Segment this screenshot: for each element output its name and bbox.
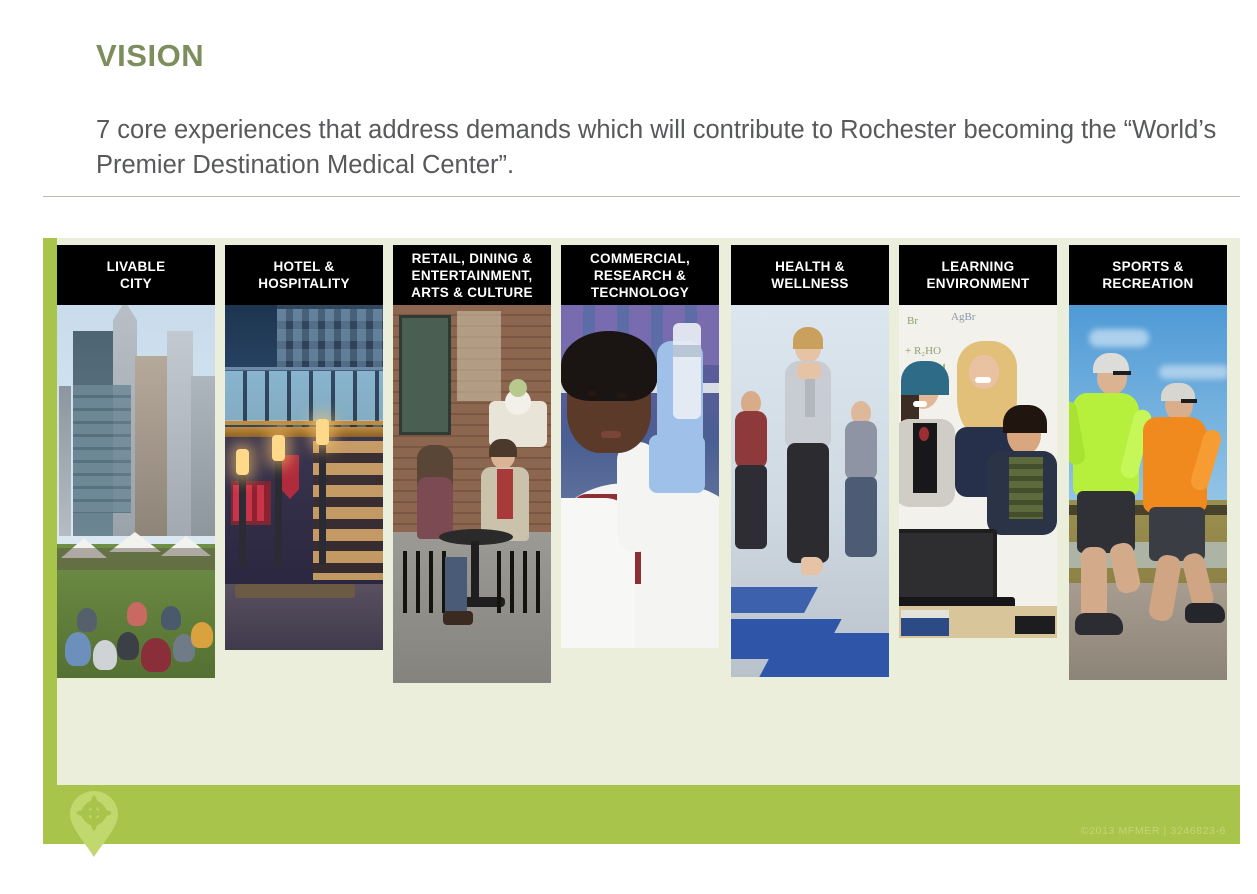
column-header-learning-environment: LEARNING ENVIRONMENT	[899, 245, 1057, 305]
column-label-line: LEARNING	[926, 258, 1029, 275]
column-label-line: HOTEL &	[258, 258, 350, 275]
column-image-sports-recreation	[1069, 305, 1227, 680]
column-header-retail-dining: RETAIL, DINING & ENTERTAINMENT, ARTS & C…	[393, 245, 551, 305]
column-image-commercial-research	[561, 305, 719, 648]
column-label-line: WELLNESS	[771, 275, 848, 292]
content-panel: LIVABLE CITY	[43, 238, 1240, 844]
column-header-commercial-research: COMMERCIAL, RESEARCH & TECHNOLOGY	[561, 245, 719, 305]
experience-columns: LIVABLE CITY	[43, 238, 1240, 785]
column-label-line: ARTS & CULTURE	[411, 284, 533, 301]
page-subtitle: 7 core experiences that address demands …	[96, 113, 1226, 183]
column-label-line: RECREATION	[1102, 275, 1193, 292]
header-divider	[43, 196, 1240, 197]
footer-bar: ©2013 MFMER | 3246823-6	[43, 785, 1240, 844]
column-header-sports-recreation: SPORTS & RECREATION	[1069, 245, 1227, 305]
experience-column-retail-dining[interactable]: RETAIL, DINING & ENTERTAINMENT, ARTS & C…	[393, 245, 551, 683]
experience-column-hotel-hospitality[interactable]: HOTEL & HOSPITALITY	[225, 245, 383, 650]
mayo-clinic-pin-logo	[67, 789, 121, 859]
column-label-line: TECHNOLOGY	[590, 284, 690, 301]
column-label-line: CITY	[107, 275, 166, 292]
slide: VISION 7 core experiences that address d…	[0, 0, 1257, 894]
column-label-line: RETAIL, DINING &	[411, 250, 533, 267]
column-image-livable-city	[57, 305, 215, 678]
column-header-livable-city: LIVABLE CITY	[57, 245, 215, 305]
column-label-line: SPORTS &	[1102, 258, 1193, 275]
column-label-line: HOSPITALITY	[258, 275, 350, 292]
column-label-line: ENTERTAINMENT,	[411, 267, 533, 284]
experience-column-sports-recreation[interactable]: SPORTS & RECREATION	[1069, 245, 1227, 680]
column-header-hotel-hospitality: HOTEL & HOSPITALITY	[225, 245, 383, 305]
column-label-line: HEALTH &	[771, 258, 848, 275]
column-label-line: RESEARCH &	[590, 267, 690, 284]
page-title: VISION	[96, 38, 204, 74]
column-image-health-wellness	[731, 305, 889, 677]
copyright-text: ©2013 MFMER | 3246823-6	[1081, 825, 1226, 837]
experience-column-health-wellness[interactable]: HEALTH & WELLNESS	[731, 245, 889, 677]
column-label-line: COMMERCIAL,	[590, 250, 690, 267]
experience-column-livable-city[interactable]: LIVABLE CITY	[57, 245, 215, 678]
column-image-learning-environment: Br + R₂HO AgBr	[899, 305, 1057, 638]
column-label-line: ENVIRONMENT	[926, 275, 1029, 292]
experience-column-learning-environment[interactable]: LEARNING ENVIRONMENT Br + R₂HO AgBr	[899, 245, 1057, 638]
experience-column-commercial-research[interactable]: COMMERCIAL, RESEARCH & TECHNOLOGY	[561, 245, 719, 648]
column-image-hotel-hospitality	[225, 305, 383, 650]
column-label-line: LIVABLE	[107, 258, 166, 275]
column-image-retail-dining	[393, 305, 551, 683]
column-header-health-wellness: HEALTH & WELLNESS	[731, 245, 889, 305]
